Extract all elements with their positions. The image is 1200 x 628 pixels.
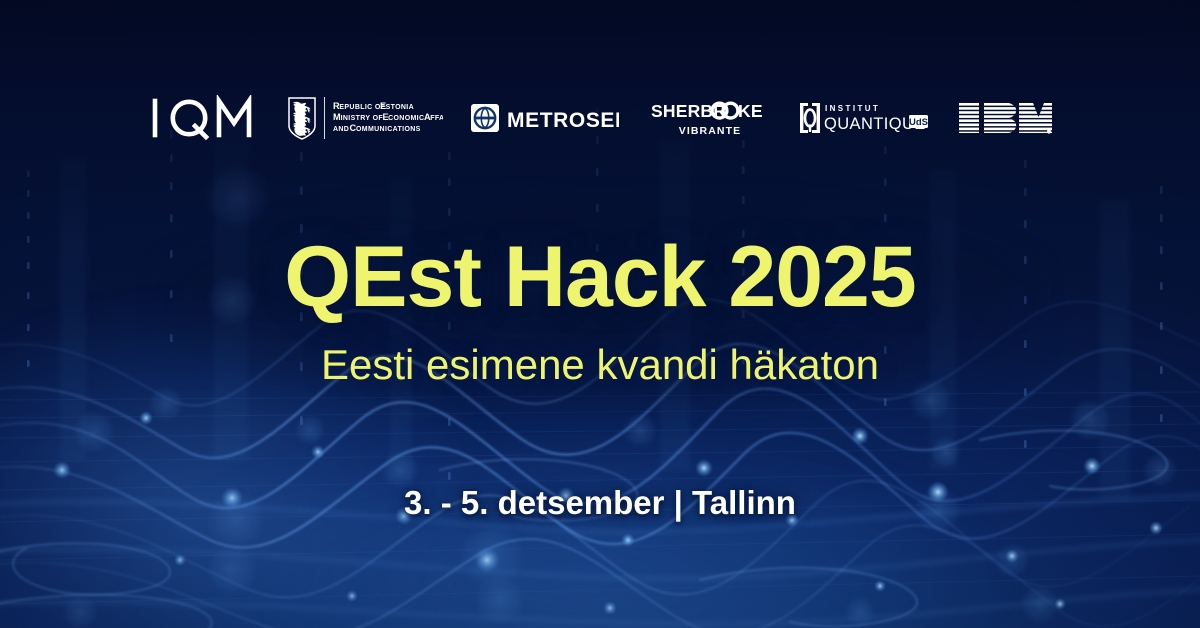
svg-text:AND: AND [333,126,349,133]
sherbrooke-tagline: VIBRANTE [678,125,740,137]
event-subtitle: Eesti esimene kvandi häkaton [0,341,1200,389]
partner-logo-institut-quantique: INSTITUT QUANTIQUE UdS [799,86,929,150]
uds-badge-icon: UdS [909,115,928,128]
event-banner: R EPUBLIC OF E STONIA M INISTRY OF E CON… [0,0,1200,628]
svg-text:EPUBLIC OF: EPUBLIC OF [339,104,385,111]
svg-text:STONIA: STONIA [385,104,413,111]
uds-badge-label: UdS [909,117,928,128]
metrosert-circle-bar-mark-icon [471,104,499,132]
partner-logo-strip: R EPUBLIC OF E STONIA M INISTRY OF E CON… [0,86,1200,150]
svg-text:CONOMIC: CONOMIC [388,115,424,122]
partner-logo-estonia-ministry: R EPUBLIC OF E STONIA M INISTRY OF E CON… [285,86,443,150]
institut-quantique-line-small: INSTITUT [825,104,880,113]
logo-divider [324,97,325,139]
svg-text:INISTRY OF: INISTRY OF [340,115,383,122]
estonia-coat-of-arms-icon [289,98,315,139]
metrosert-lockup-icon: METROSERT [469,98,619,138]
sherbrooke-lockup-icon: SHERBR KE VIBRANTE [649,97,771,139]
ibm-eight-stripe-logo-icon [957,99,1052,137]
ibm-registered-dot [1047,130,1051,134]
sherbrooke-wordmark-right: KE [738,101,763,121]
event-title: QEst Hack 2025 [0,234,1200,320]
metrosert-wordmark: METROSERT [507,109,619,132]
bracket-q-mark-icon [800,103,820,133]
institut-quantique-lockup-icon: INSTITUT QUANTIQUE UdS [799,98,929,138]
svg-text:FFAIRS: FFAIRS [430,115,443,122]
event-dateline: 3. - 5. detsember | Tallinn [0,483,1200,523]
partner-logo-metrosert: METROSERT [469,86,619,150]
partner-logo-iqm [149,86,257,150]
partner-logo-sherbrooke: SHERBR KE VIBRANTE [649,86,771,150]
estonia-ministry-lockup-icon: R EPUBLIC OF E STONIA M INISTRY OF E CON… [285,94,443,142]
estonia-ministry-text: R EPUBLIC OF E STONIA M INISTRY OF E CON… [333,101,443,133]
iqm-wordmark-icon [149,95,257,141]
partner-logo-ibm [957,86,1052,150]
svg-text:OMMUNICATIONS: OMMUNICATIONS [356,126,421,133]
